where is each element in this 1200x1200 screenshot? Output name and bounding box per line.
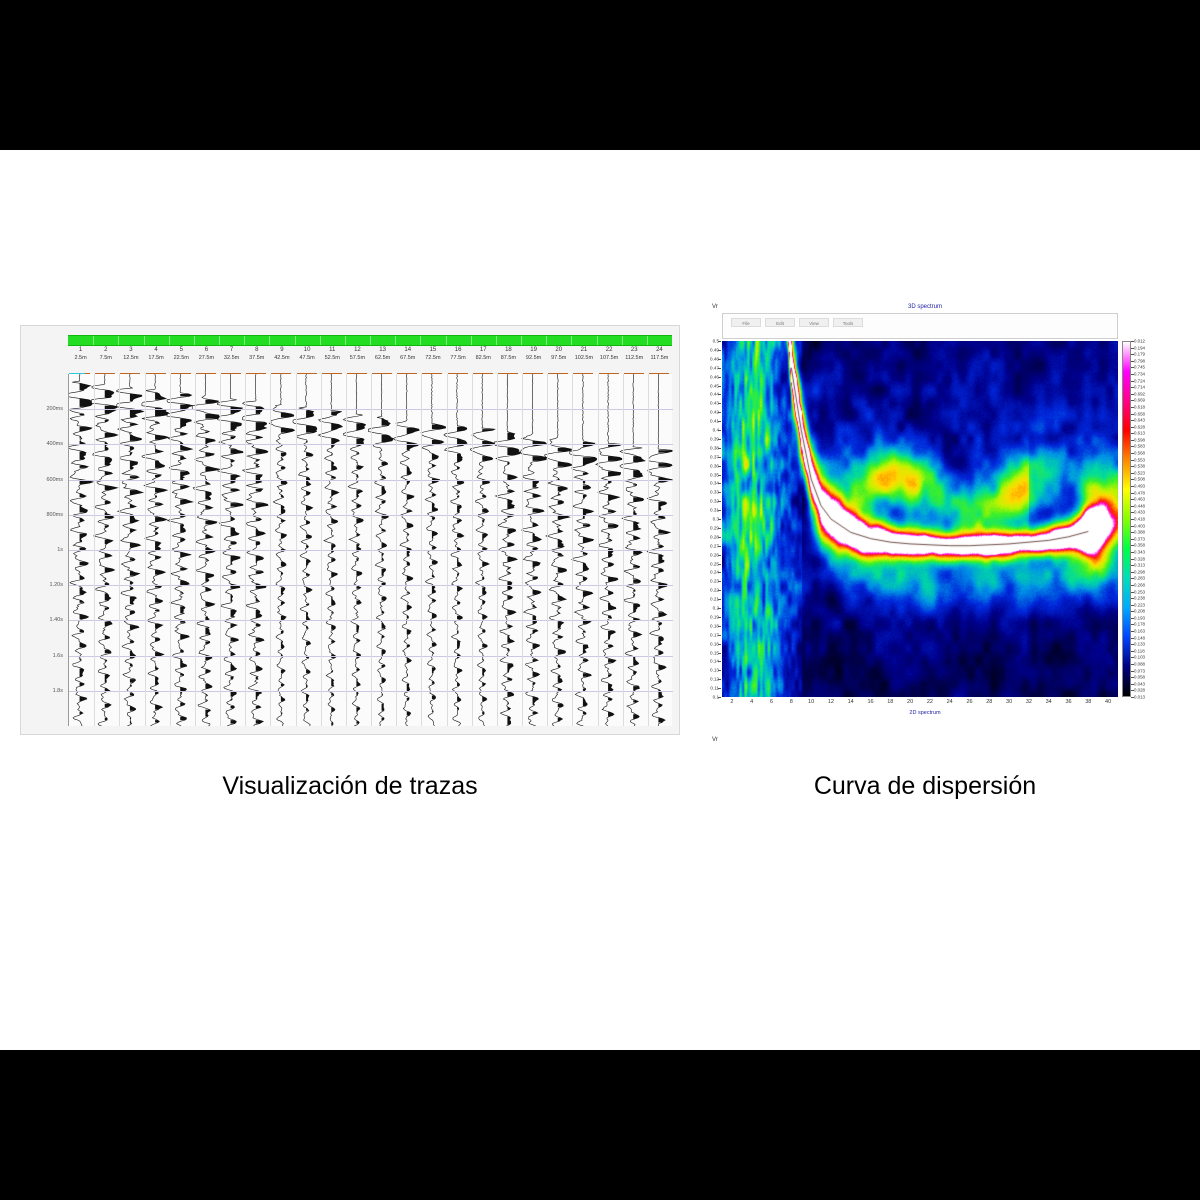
colorbar-tick — [1131, 624, 1134, 625]
trace-positive-lobe — [658, 665, 666, 670]
colorbar-tick-label: 0.268 — [1134, 582, 1145, 587]
velocity-tick — [718, 403, 721, 404]
trace-positive-lobe — [658, 555, 664, 563]
velocity-tick — [718, 350, 721, 351]
toolbar-button-file[interactable]: File — [731, 318, 761, 327]
velocity-tick — [718, 581, 721, 582]
trace-positive-lobe — [432, 494, 436, 496]
colorbar-tick — [1131, 572, 1134, 573]
trace-positive-lobe — [382, 569, 386, 576]
trace-number: 19 — [521, 346, 546, 354]
trace-header-13[interactable]: 1362.5m — [370, 346, 395, 363]
trace-positive-lobe — [658, 450, 672, 452]
velocity-axis: 0.50.490.480.470.460.450.440.430.420.410… — [700, 341, 721, 697]
trace-gridline — [195, 374, 196, 726]
trace-positive-lobe — [407, 548, 412, 556]
colorbar-tick-label: 0.103 — [1134, 655, 1145, 660]
colorbar-tick-label: 0.343 — [1134, 549, 1145, 554]
colorbar-tick-label: 0.388 — [1134, 530, 1145, 535]
trace-positive-lobe — [80, 683, 85, 687]
trace-positive-lobe — [608, 603, 616, 610]
trace-positive-lobe — [180, 568, 187, 570]
time-tick-label: 800ms — [46, 512, 63, 518]
trace-positive-lobe — [482, 712, 484, 714]
trace-positive-lobe — [633, 657, 638, 665]
trace-positive-lobe — [608, 503, 609, 504]
velocity-tick — [718, 394, 721, 395]
colorbar-tick — [1131, 506, 1134, 507]
frequency-tick-label: 36 — [1065, 699, 1071, 705]
toolbar-button-tools[interactable]: Tools — [833, 318, 863, 327]
trace-positive-lobe — [407, 562, 410, 566]
colorbar-tick-label: 0.643 — [1134, 418, 1145, 423]
trace-offset: 57.5m — [345, 354, 370, 363]
trace-gridline — [472, 374, 473, 726]
trace-positive-lobe — [633, 484, 636, 485]
trace-positive-lobe — [130, 640, 134, 642]
trace-positive-lobe — [407, 645, 410, 647]
colorbar-tick — [1131, 512, 1134, 513]
trace-positive-lobe — [356, 466, 363, 470]
trace-positive-lobe — [356, 423, 365, 430]
velocity-tick — [718, 679, 721, 680]
velocity-tick — [718, 608, 721, 609]
velocity-tick — [718, 519, 721, 520]
frequency-tick-label: 18 — [887, 699, 893, 705]
trace-positive-lobe — [331, 423, 342, 430]
colorbar-tick-label: 0.313 — [1134, 563, 1145, 568]
colorbar-tick-label: 0.508 — [1134, 477, 1145, 482]
trace-positive-lobe — [155, 610, 159, 611]
toolbar-button-view[interactable]: View — [799, 318, 829, 327]
trace-gridline — [447, 374, 448, 726]
colorbar-tick — [1131, 473, 1134, 474]
colorbar-tick-label: 0.358 — [1134, 543, 1145, 548]
colorbar-tick — [1131, 526, 1134, 527]
trace-offset: 87.5m — [496, 354, 521, 363]
trace-positive-lobe — [356, 571, 362, 576]
trace-positive-lobe — [382, 665, 386, 667]
trace-positive-lobe — [80, 518, 85, 522]
trace-header-1[interactable]: 12.5m — [68, 346, 93, 363]
trace-positive-lobe — [658, 502, 666, 510]
colorbar-tick — [1131, 361, 1134, 362]
colorbar-tick-label: 0.463 — [1134, 497, 1145, 502]
colorbar-legend: 0.0120.1940.1790.7980.7450.7340.7240.714… — [1121, 341, 1150, 697]
colorbar-tick — [1131, 592, 1134, 593]
time-tick-label: 1.40s — [50, 617, 63, 623]
colorbar-tick-label: 0.448 — [1134, 503, 1145, 508]
colorbar-tick — [1131, 387, 1134, 388]
velocity-tick — [718, 564, 721, 565]
trace-header-11[interactable]: 1152.5m — [320, 346, 345, 363]
trace-positive-lobe — [130, 664, 133, 666]
trace-positive-lobe — [105, 650, 111, 654]
colorbar-tick — [1131, 466, 1134, 467]
trace-number: 22 — [597, 346, 622, 354]
caption-dispersion: Curva de dispersión — [700, 772, 1150, 801]
trace-positive-lobe — [306, 521, 310, 525]
colorbar-tick — [1131, 367, 1134, 368]
trace-gridline — [547, 374, 548, 726]
trace-offset: 17.5m — [144, 354, 169, 363]
trace-gridline — [623, 374, 624, 726]
trace-offset: 22.5m — [169, 354, 194, 363]
trace-gridline — [321, 374, 322, 726]
trace-number: 2 — [93, 346, 118, 354]
trace-header-16[interactable]: 1677.5m — [446, 346, 471, 363]
trace-offset: 77.5m — [446, 354, 471, 363]
frequency-tick-label: 34 — [1046, 699, 1052, 705]
trace-positive-lobe — [382, 543, 387, 548]
trace-offset: 112.5m — [622, 354, 647, 363]
velocity-tick — [718, 412, 721, 413]
trace-header-14[interactable]: 1467.5m — [395, 346, 420, 363]
trace-plot-area[interactable] — [68, 374, 672, 726]
time-axis-labels: 200ms400ms600ms800ms1s1.20s1.40s1.6s1.8s — [23, 374, 67, 726]
trace-gridline — [648, 374, 649, 726]
velocity-tick — [718, 688, 721, 689]
page-title: Pruebas de MASW — [0, 45, 1200, 87]
trace-positive-lobe — [205, 400, 218, 404]
colorbar-tick-label: 0.193 — [1134, 615, 1145, 620]
trace-positive-lobe — [382, 419, 391, 426]
trace-positive-lobe — [256, 436, 263, 438]
trace-gridline — [396, 374, 397, 726]
frequency-tick-label: 10 — [808, 699, 814, 705]
trace-positive-lobe — [432, 667, 436, 673]
trace-positive-lobe — [130, 679, 136, 683]
trace-positive-lobe — [658, 637, 663, 645]
colorbar-tick-label: 0.208 — [1134, 609, 1145, 614]
trace-header-9[interactable]: 942.5m — [269, 346, 294, 363]
trace-positive-lobe — [558, 595, 567, 601]
colorbar-tick — [1131, 420, 1134, 421]
colorbar-tick — [1131, 519, 1134, 520]
dispersion-toolbar[interactable]: FileEditViewTools — [722, 313, 1118, 339]
trace-positive-lobe — [331, 439, 339, 448]
trace-gridline — [522, 374, 523, 726]
trace-number: 20 — [546, 346, 571, 354]
trace-positive-lobe — [256, 571, 264, 573]
frequency-tick-label: 12 — [828, 699, 834, 705]
trace-number: 7 — [219, 346, 244, 354]
trace-gridline — [346, 374, 347, 726]
colorbar-tick — [1131, 433, 1134, 434]
trace-gridline — [270, 374, 271, 726]
velocity-tick — [718, 670, 721, 671]
trace-positive-lobe — [306, 573, 310, 575]
frequency-tick-label: 20 — [907, 699, 913, 705]
trace-number: 6 — [194, 346, 219, 354]
trace-positive-lobe — [331, 612, 333, 613]
trace-positive-lobe — [256, 449, 268, 454]
colorbar-tick-label: 0.568 — [1134, 451, 1145, 456]
colorbar-tick — [1131, 453, 1134, 454]
velocity-tick — [718, 555, 721, 556]
trace-number: 24 — [647, 346, 672, 354]
trace-header-21[interactable]: 21102.5m — [571, 346, 596, 363]
trace-positive-lobe — [356, 534, 359, 536]
trace-positive-lobe — [331, 597, 335, 605]
velocity-tick — [718, 457, 721, 458]
trace-header-23[interactable]: 23112.5m — [622, 346, 647, 363]
velocity-tick — [718, 546, 721, 547]
colorbar-tick — [1131, 427, 1134, 428]
trace-positive-lobe — [130, 571, 140, 576]
trace-header-8[interactable]: 837.5m — [244, 346, 269, 363]
trace-positive-lobe — [180, 659, 187, 667]
velocity-tick — [718, 492, 721, 493]
trace-header-7[interactable]: 732.5m — [219, 346, 244, 363]
trace-header-2[interactable]: 27.5m — [93, 346, 118, 363]
velocity-tick — [718, 466, 721, 467]
trace-positive-lobe — [105, 674, 110, 682]
trace-positive-lobe — [633, 579, 640, 583]
trace-header-17[interactable]: 1782.5m — [471, 346, 496, 363]
trace-positive-lobe — [457, 631, 458, 633]
colorbar-tick — [1131, 354, 1134, 355]
trace-header-24[interactable]: 24117.5m — [647, 346, 672, 363]
trace-positive-lobe — [507, 490, 514, 492]
trace-positive-lobe — [482, 534, 488, 541]
trace-positive-lobe — [306, 588, 312, 593]
trace-positive-lobe — [180, 433, 187, 435]
trace-positive-lobe — [155, 528, 159, 530]
frequency-tick-label: 8 — [790, 699, 793, 705]
trace-offset: 12.5m — [118, 354, 143, 363]
velocity-tick — [718, 617, 721, 618]
trace-positive-lobe — [382, 476, 386, 478]
trace-number: 9 — [269, 346, 294, 354]
colorbar-tick-label: 0.692 — [1134, 391, 1145, 396]
trace-positive-lobe — [658, 598, 663, 600]
colorbar-tick — [1131, 552, 1134, 553]
colorbar-tick-label: 0.714 — [1134, 385, 1145, 390]
trace-positive-lobe — [608, 481, 611, 483]
trace-positive-lobe — [633, 604, 640, 612]
trace-positive-lobe — [533, 683, 535, 685]
trace-offset: 107.5m — [597, 354, 622, 363]
colorbar-tick — [1131, 486, 1134, 487]
trace-positive-lobe — [356, 679, 360, 686]
trace-positive-lobe — [80, 414, 85, 415]
trace-number: 13 — [370, 346, 395, 354]
trace-header-18[interactable]: 1887.5m — [496, 346, 521, 363]
velocity-tick — [718, 537, 721, 538]
trace-positive-lobe — [583, 712, 586, 714]
trace-positive-lobe — [205, 627, 210, 634]
trace-positive-lobe — [382, 597, 387, 601]
trace-positive-lobe — [658, 463, 672, 467]
trace-positive-lobe — [331, 707, 335, 712]
colorbar-tick — [1131, 657, 1134, 658]
colorbar-tick-label: 0.658 — [1134, 411, 1145, 416]
trace-header-10[interactable]: 1047.5m — [295, 346, 320, 363]
trace-positive-lobe — [633, 700, 638, 702]
trace-positive-lobe — [633, 632, 642, 637]
colorbar-tick — [1131, 394, 1134, 395]
trace-positive-lobe — [533, 534, 542, 542]
colorbar-tick-label: 0.013 — [1134, 695, 1145, 700]
colorbar-tick — [1131, 414, 1134, 415]
colorbar-tick — [1131, 374, 1134, 375]
time-tick-label: 1.8s — [53, 688, 63, 694]
colorbar-tick — [1131, 545, 1134, 546]
trace-positive-lobe — [608, 674, 611, 676]
colorbar-tick-label: 0.163 — [1134, 629, 1145, 634]
frequency-tick-label: 40 — [1105, 699, 1111, 705]
trace-number: 12 — [345, 346, 370, 354]
velocity-tick — [718, 501, 721, 502]
trace-positive-lobe — [457, 454, 462, 462]
trace-positive-lobe — [281, 588, 285, 595]
trace-positive-lobe — [105, 578, 106, 579]
velocity-tick — [718, 590, 721, 591]
trace-positive-lobe — [482, 600, 485, 604]
colorbar-tick — [1131, 611, 1134, 612]
velocity-tick — [718, 341, 721, 342]
trace-positive-lobe — [231, 422, 242, 430]
colorbar-tick — [1131, 532, 1134, 533]
trace-positive-lobe — [155, 542, 161, 550]
trace-gridline — [245, 374, 246, 726]
colorbar-tick-label: 0.179 — [1134, 352, 1145, 357]
colorbar-tick — [1131, 690, 1134, 691]
trace-header-15[interactable]: 1572.5m — [420, 346, 445, 363]
colorbar-tick-label: 0.523 — [1134, 470, 1145, 475]
colorbar-tick — [1131, 499, 1134, 500]
colorbar-tick — [1131, 578, 1134, 579]
trace-number: 8 — [244, 346, 269, 354]
colorbar-tick-label: 0.043 — [1134, 681, 1145, 686]
velocity-tick — [718, 448, 721, 449]
trace-positive-lobe — [231, 664, 237, 671]
trace-header-19[interactable]: 1992.5m — [521, 346, 546, 363]
trace-positive-lobe — [583, 485, 591, 489]
colorbar-tick-label: 0.745 — [1134, 365, 1145, 370]
trace-header-3[interactable]: 312.5m — [118, 346, 143, 363]
trace-offset: 72.5m — [420, 354, 445, 363]
trace-positive-lobe — [180, 650, 183, 652]
trace-positive-lobe — [633, 470, 643, 477]
trace-positive-lobe — [331, 412, 341, 416]
colorbar-tick — [1131, 539, 1134, 540]
trace-positive-lobe — [105, 568, 115, 573]
trace-positive-lobe — [407, 605, 412, 610]
trace-positive-lobe — [633, 671, 636, 675]
trace-offset: 117.5m — [647, 354, 672, 363]
colorbar-tick-label: 0.178 — [1134, 622, 1145, 627]
trace-positive-lobe — [80, 712, 83, 714]
trace-gridline — [296, 374, 297, 726]
trace-positive-lobe — [633, 456, 645, 462]
trace-header-5[interactable]: 522.5m — [169, 346, 194, 363]
trace-gridline — [371, 374, 372, 726]
trace-positive-lobe — [80, 697, 87, 702]
trace-positive-lobe — [155, 570, 165, 575]
velocity-tick — [718, 661, 721, 662]
colorbar-tick-label: 0.118 — [1134, 648, 1145, 653]
trace-header-22[interactable]: 22107.5m — [597, 346, 622, 363]
velocity-tick — [718, 475, 721, 476]
trace-positive-lobe — [256, 542, 260, 546]
trace-positive-lobe — [482, 495, 486, 497]
dispersion-spectrum-image[interactable] — [722, 341, 1118, 697]
colorbar-tick-label: 0.553 — [1134, 457, 1145, 462]
colorbar-tick-label: 0.148 — [1134, 635, 1145, 640]
colorbar-tick-label: 0.012 — [1134, 339, 1145, 344]
trace-positive-lobe — [558, 665, 561, 667]
trace-positive-lobe — [558, 539, 564, 547]
trace-header-12[interactable]: 1257.5m — [345, 346, 370, 363]
trace-positive-lobe — [130, 588, 133, 590]
colorbar-gradient — [1122, 341, 1131, 697]
trace-positive-lobe — [155, 496, 157, 497]
trace-positive-lobe — [105, 593, 111, 600]
traces-panel[interactable]: 12.5m27.5m312.5m417.5m522.5m627.5m732.5m… — [20, 325, 680, 735]
trace-gridline — [145, 374, 146, 726]
frequency-tick-label: 24 — [947, 699, 953, 705]
colorbar-tick-label: 0.403 — [1134, 523, 1145, 528]
trace-offset: 37.5m — [244, 354, 269, 363]
colorbar-tick — [1131, 664, 1134, 665]
trace-positive-lobe — [608, 631, 615, 639]
trace-positive-lobe — [356, 453, 359, 454]
time-tick-label: 1.6s — [53, 653, 63, 659]
trace-positive-lobe — [105, 666, 106, 667]
trace-positive-lobe — [130, 625, 139, 630]
trace-positive-lobe — [658, 516, 665, 518]
frequency-tick-label: 4 — [750, 699, 753, 705]
trace-positive-lobe — [130, 394, 142, 401]
velocity-tick — [718, 439, 721, 440]
colorbar-tick-label: 0.724 — [1134, 378, 1145, 383]
trace-offset: 27.5m — [194, 354, 219, 363]
dispersion-panel[interactable]: Vr 3D spectrum FileEditViewTools 0.50.49… — [700, 302, 1150, 745]
trace-positive-lobe — [608, 591, 613, 595]
colorbar-tick — [1131, 446, 1134, 447]
trace-gridline — [119, 374, 120, 726]
trace-positive-lobe — [633, 714, 639, 719]
trace-positive-lobe — [457, 491, 459, 492]
trace-header-4[interactable]: 417.5m — [144, 346, 169, 363]
trace-positive-lobe — [256, 556, 264, 563]
colorbar-tick-label: 0.298 — [1134, 569, 1145, 574]
trace-header-6[interactable]: 627.5m — [194, 346, 219, 363]
toolbar-button-edit[interactable]: Edit — [765, 318, 795, 327]
trace-positive-lobe — [633, 590, 635, 591]
colorbar-tick — [1131, 684, 1134, 685]
slide-body: 12.5m27.5m312.5m417.5m522.5m627.5m732.5m… — [0, 150, 1200, 1050]
colorbar-tick — [1131, 644, 1134, 645]
time-tick-label: 200ms — [46, 406, 63, 412]
geophone-spread-bar — [68, 335, 672, 346]
velocity-tick — [718, 572, 721, 573]
trace-positive-lobe — [507, 664, 513, 672]
trace-positive-lobe — [155, 503, 163, 505]
trace-header-20[interactable]: 2097.5m — [546, 346, 571, 363]
trace-offset: 42.5m — [269, 354, 294, 363]
colorbar-tick — [1131, 400, 1134, 401]
colorbar-tick-label: 0.798 — [1134, 358, 1145, 363]
colorbar-tick-label: 0.493 — [1134, 484, 1145, 489]
trace-positive-lobe — [533, 659, 539, 661]
trace-positive-lobe — [382, 487, 386, 495]
colorbar-tick-label: 0.613 — [1134, 431, 1145, 436]
colorbar-tick-label: 0.088 — [1134, 662, 1145, 667]
trace-positive-lobe — [331, 518, 338, 523]
